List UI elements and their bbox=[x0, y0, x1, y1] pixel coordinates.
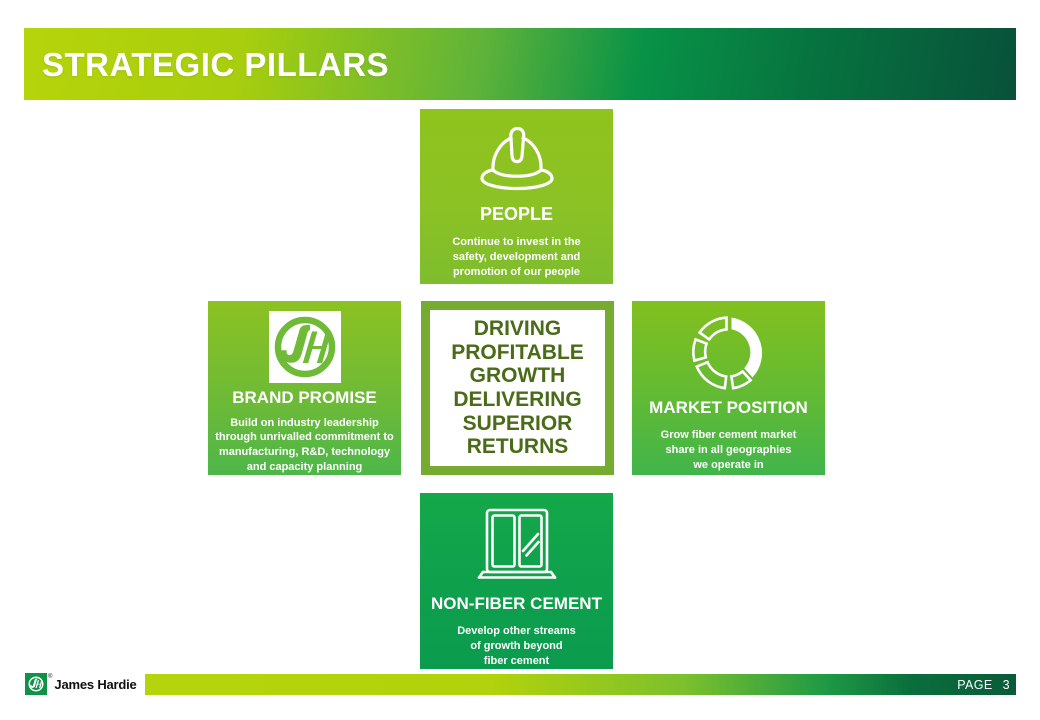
center-statement-text: DRIVING PROFITABLE GROWTH DELIVERING SUP… bbox=[451, 317, 584, 459]
pillar-body-line: safety, development and bbox=[437, 250, 597, 265]
center-line: GROWTH bbox=[451, 364, 584, 388]
pillar-body-line: Build on industry leadership bbox=[212, 416, 398, 431]
pillar-body-line: share in all geographies bbox=[643, 443, 815, 458]
window-icon bbox=[469, 493, 565, 593]
pillar-body-line: of growth beyond bbox=[432, 639, 602, 654]
pillar-body-line: Continue to invest in the bbox=[437, 235, 597, 250]
center-statement-inner: DRIVING PROFITABLE GROWTH DELIVERING SUP… bbox=[430, 310, 605, 466]
center-statement-card: DRIVING PROFITABLE GROWTH DELIVERING SUP… bbox=[421, 301, 614, 475]
center-line: DELIVERING bbox=[451, 388, 584, 412]
hard-hat-icon bbox=[477, 109, 557, 203]
center-line: SUPERIOR bbox=[451, 412, 584, 436]
slide-header-bar: STRATEGIC PILLARS bbox=[24, 28, 1016, 100]
page-title: STRATEGIC PILLARS bbox=[42, 48, 389, 81]
pillar-card-non-fiber-cement[interactable]: NON-FIBER CEMENT Develop other streams o… bbox=[420, 493, 613, 669]
slide-canvas: STRATEGIC PILLARS PEOPLE Continue to inv… bbox=[0, 0, 1040, 720]
james-hardie-logo-icon bbox=[269, 301, 341, 388]
pillar-body-market-position: Grow fiber cement market share in all ge… bbox=[643, 428, 815, 473]
pillar-title-market-position: MARKET POSITION bbox=[649, 399, 808, 417]
center-line: PROFITABLE bbox=[451, 341, 584, 365]
pillar-card-people[interactable]: PEOPLE Continue to invest in the safety,… bbox=[420, 109, 613, 284]
pillar-body-line: manufacturing, R&D, technology bbox=[212, 445, 398, 460]
pillar-body-line: promotion of our people bbox=[437, 265, 597, 280]
footer-brand-logo: ® James Hardie bbox=[25, 673, 137, 695]
pillar-body-line: we operate in bbox=[643, 458, 815, 473]
pillar-body-non-fiber-cement: Develop other streams of growth beyond f… bbox=[432, 624, 602, 669]
footer-brand-name: James Hardie bbox=[54, 677, 136, 692]
center-line: RETURNS bbox=[451, 435, 584, 459]
pillar-title-non-fiber-cement: NON-FIBER CEMENT bbox=[431, 595, 602, 613]
center-line: DRIVING bbox=[451, 317, 584, 341]
pillar-body-line: Grow fiber cement market bbox=[643, 428, 815, 443]
pillar-body-line: Develop other streams bbox=[432, 624, 602, 639]
pillar-body-line: and capacity planning bbox=[212, 460, 398, 475]
pillar-title-brand-promise: BRAND PROMISE bbox=[232, 389, 377, 407]
page-label: PAGE bbox=[957, 678, 992, 692]
pillar-body-line: fiber cement bbox=[432, 654, 602, 669]
page-number: 3 bbox=[1003, 678, 1010, 692]
pillar-body-brand-promise: Build on industry leadership through unr… bbox=[212, 416, 398, 475]
james-hardie-mark-icon bbox=[25, 673, 47, 695]
footer-page-indicator: PAGE 3 bbox=[957, 674, 1010, 695]
pillar-title-people: PEOPLE bbox=[480, 205, 553, 224]
footer-gradient-bar bbox=[145, 674, 1016, 695]
registered-trademark-symbol: ® bbox=[48, 674, 52, 680]
pillar-body-people: Continue to invest in the safety, develo… bbox=[437, 235, 597, 280]
pillar-card-market-position[interactable]: MARKET POSITION Grow fiber cement market… bbox=[632, 301, 825, 475]
donut-chart-icon bbox=[687, 301, 771, 399]
pillar-card-brand-promise[interactable]: BRAND PROMISE Build on industry leadersh… bbox=[208, 301, 401, 475]
pillar-body-line: through unrivalled commitment to bbox=[212, 430, 398, 445]
